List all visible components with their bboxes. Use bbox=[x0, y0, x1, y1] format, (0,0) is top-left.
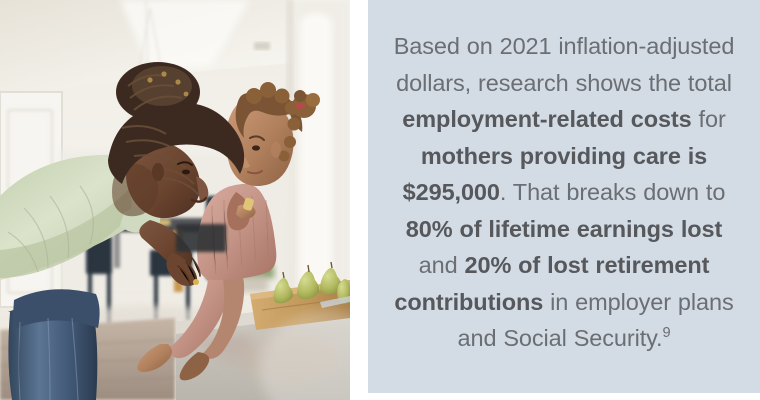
footnote-marker: 9 bbox=[662, 325, 670, 341]
child-ear bbox=[271, 142, 281, 158]
statistic-text: Based on 2021 inflation-adjusted dollars… bbox=[386, 28, 742, 357]
photograph-illustration bbox=[0, 0, 350, 400]
stat-card-root: Based on 2021 inflation-adjusted dollars… bbox=[0, 0, 760, 400]
child-eye bbox=[252, 145, 260, 150]
statistic-panel: Based on 2021 inflation-adjusted dollars… bbox=[368, 0, 760, 393]
panel-bottom-strip bbox=[368, 393, 760, 400]
statistic-emphasis: 80% of lifetime earnings lost bbox=[406, 216, 722, 242]
statistic-plain: for bbox=[692, 106, 726, 132]
held-snack bbox=[193, 279, 199, 285]
divider-gutter bbox=[350, 0, 368, 400]
wall-appliance bbox=[176, 224, 226, 252]
photo-pane bbox=[0, 0, 350, 400]
statistic-plain: Based on 2021 inflation-adjusted dollars… bbox=[394, 33, 735, 96]
statistic-emphasis: employment-related costs bbox=[402, 106, 691, 132]
mother-ear bbox=[152, 163, 164, 181]
statistic-plain: . That breaks down to bbox=[500, 179, 725, 205]
statistic-plain: and bbox=[419, 252, 465, 278]
mother-eye bbox=[182, 170, 190, 175]
ceiling-vent bbox=[254, 42, 270, 50]
